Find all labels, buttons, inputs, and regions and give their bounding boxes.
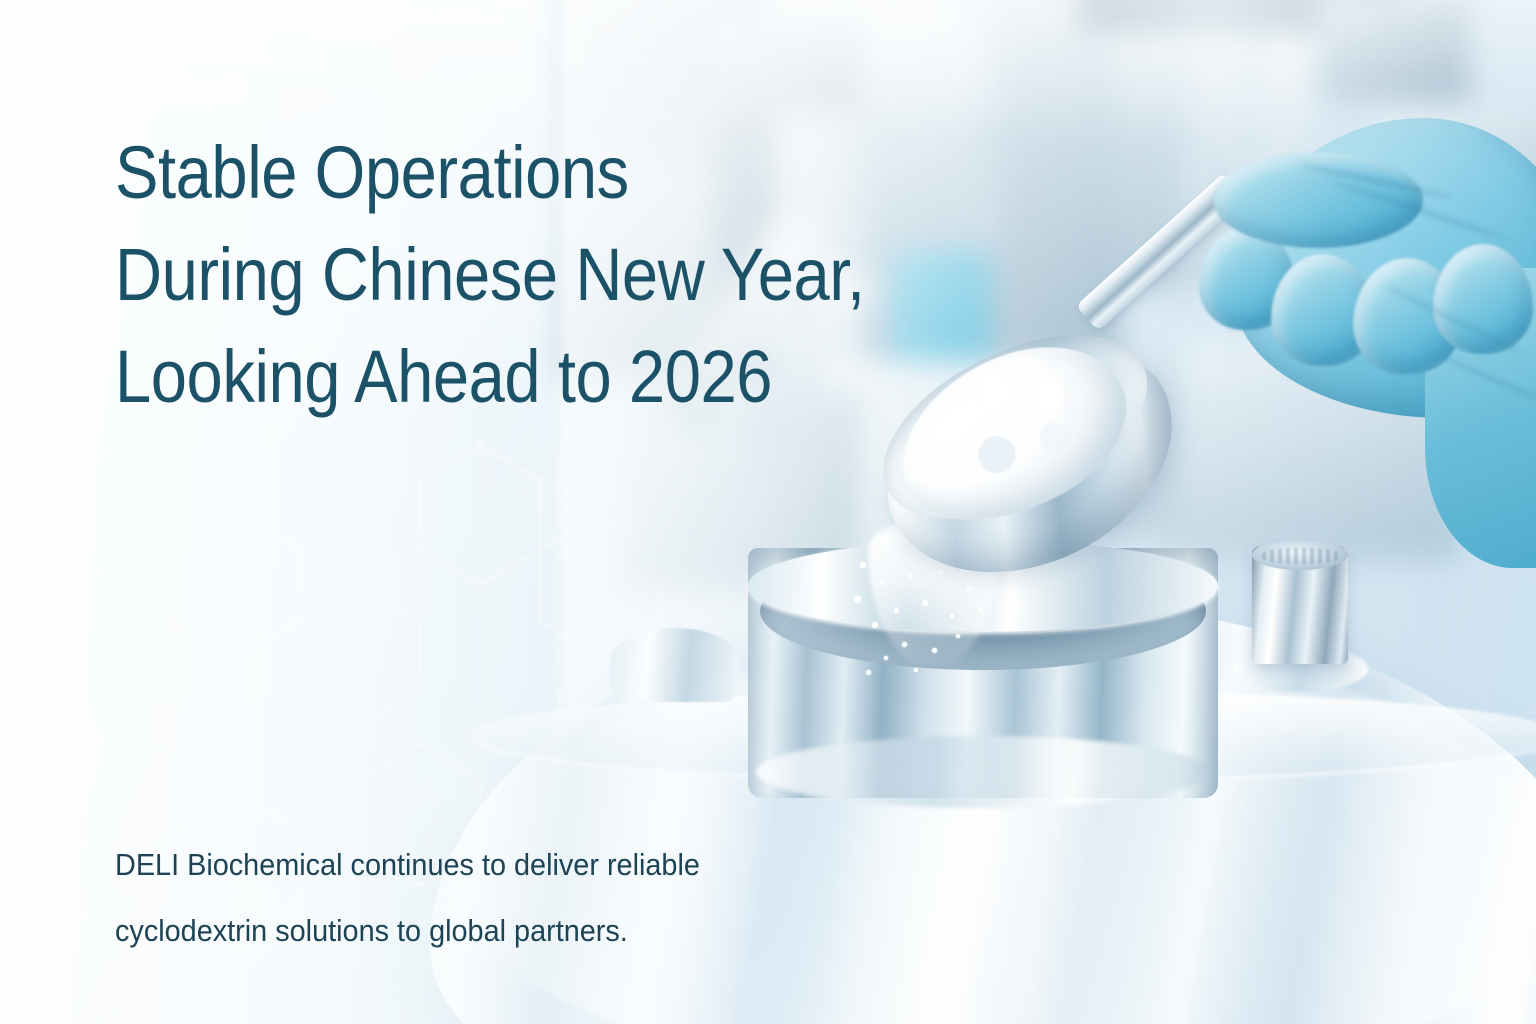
- page-subtitle: DELI Biochemical continues to deliver re…: [115, 832, 989, 964]
- subtitle-line-1: DELI Biochemical continues to deliver re…: [115, 832, 989, 898]
- headline-line-3: Looking Ahead to 2026: [115, 326, 845, 428]
- headline-line-1: Stable Operations: [115, 122, 845, 224]
- fitting-embossed-text: [1262, 548, 1340, 564]
- promotional-banner: Stable Operations During Chinese New Yea…: [0, 0, 1536, 1024]
- gloved-hand: [1175, 108, 1536, 538]
- top-scrim: [0, 0, 1536, 140]
- page-title: Stable Operations During Chinese New Yea…: [115, 122, 845, 428]
- subtitle-line-2: cyclodextrin solutions to global partner…: [115, 898, 989, 964]
- headline-line-2: During Chinese New Year,: [115, 224, 845, 326]
